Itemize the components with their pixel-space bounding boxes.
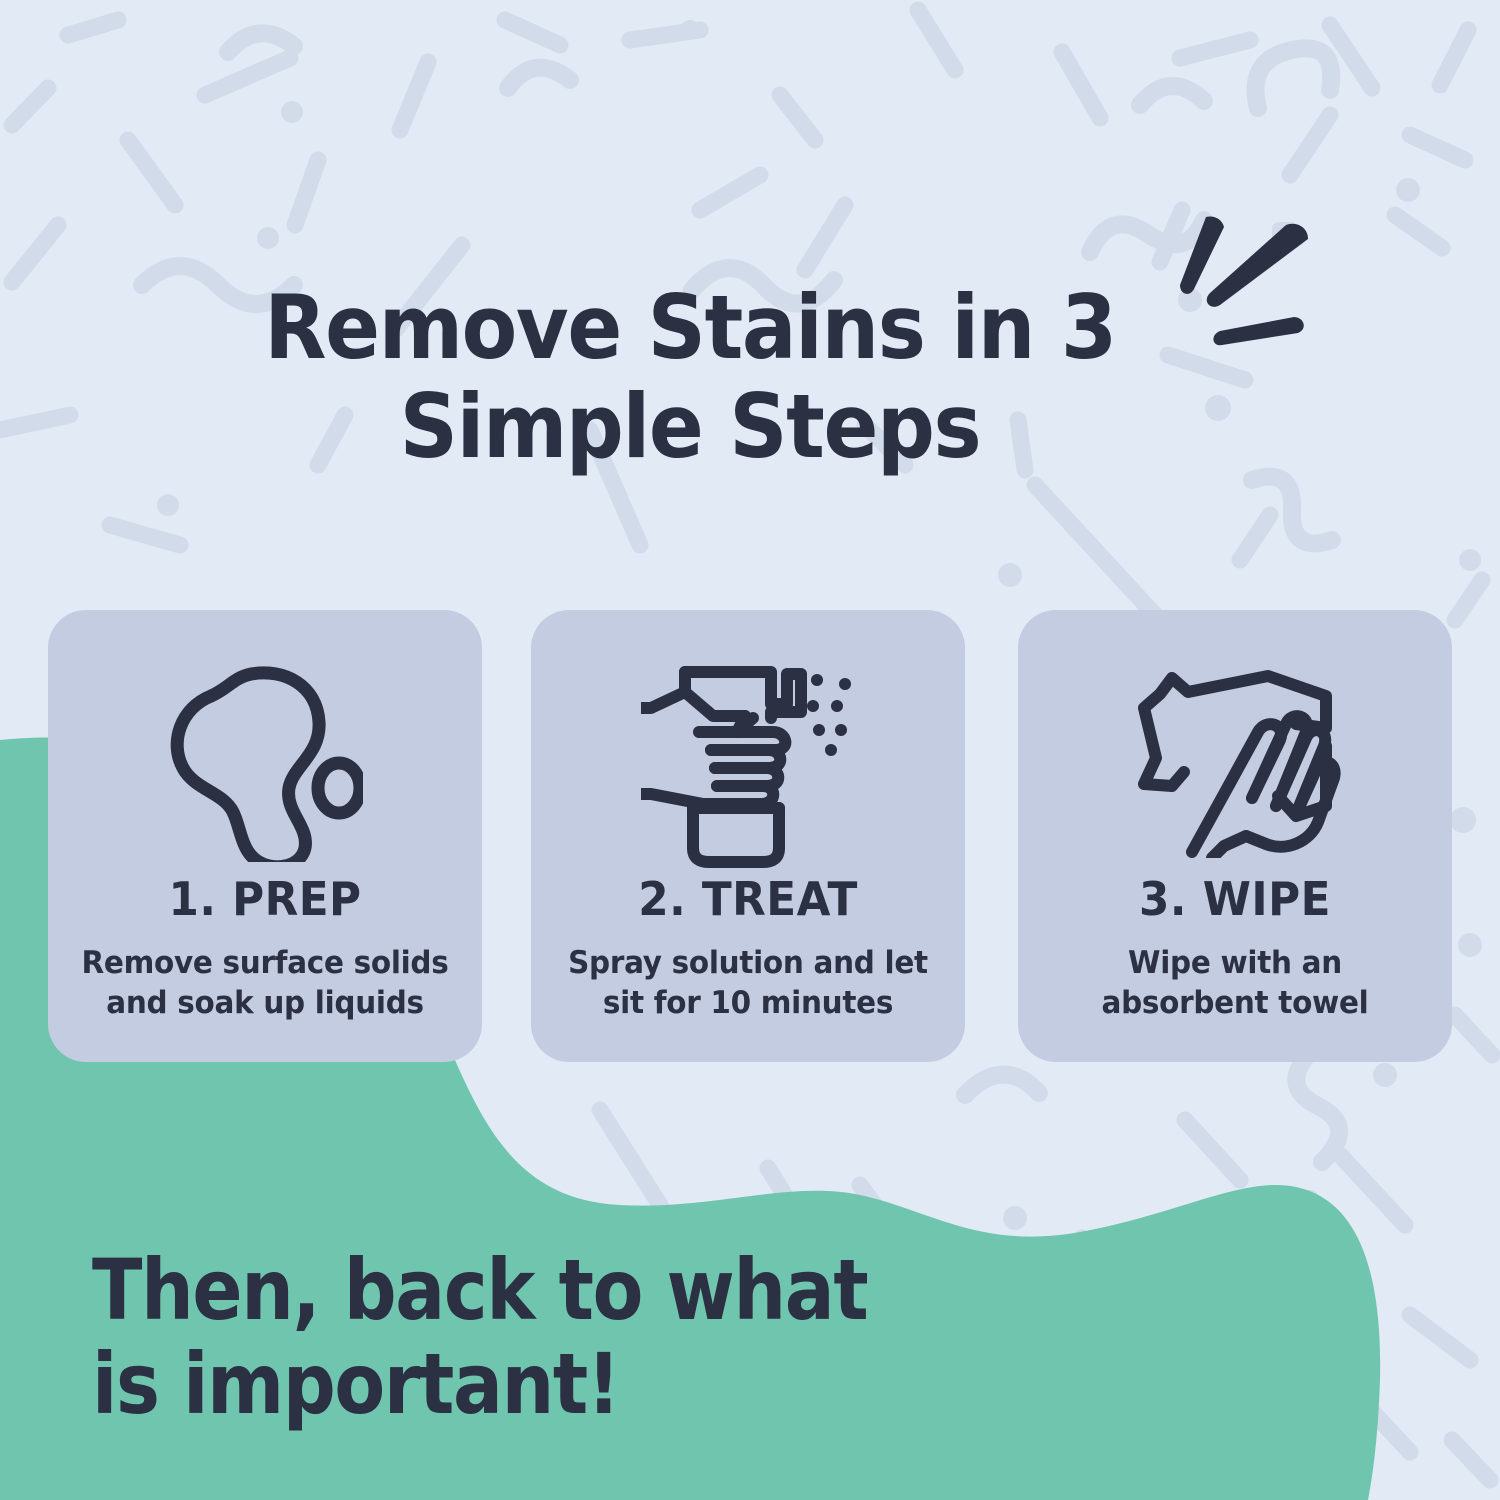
- step-description-prep: Remove surface solids and soak up liquid…: [59, 944, 471, 1023]
- step-description-wipe: Wipe with an absorbent towel: [1029, 944, 1441, 1023]
- closing-statement: Then, back to what is important!: [92, 1243, 867, 1431]
- page-title: Remove Stains in 3 Simple Steps: [55, 278, 1325, 477]
- step-title-treat: 2. TREAT: [542, 872, 954, 926]
- step-title-wipe: 3. WIPE: [1029, 872, 1441, 926]
- step-title-prep: 1. PREP: [59, 872, 471, 926]
- step-description-treat: Spray solution and let sit for 10 minute…: [542, 944, 954, 1023]
- infographic-poster: Remove Stains in 3 Simple Steps 1. PREP …: [0, 0, 1500, 1500]
